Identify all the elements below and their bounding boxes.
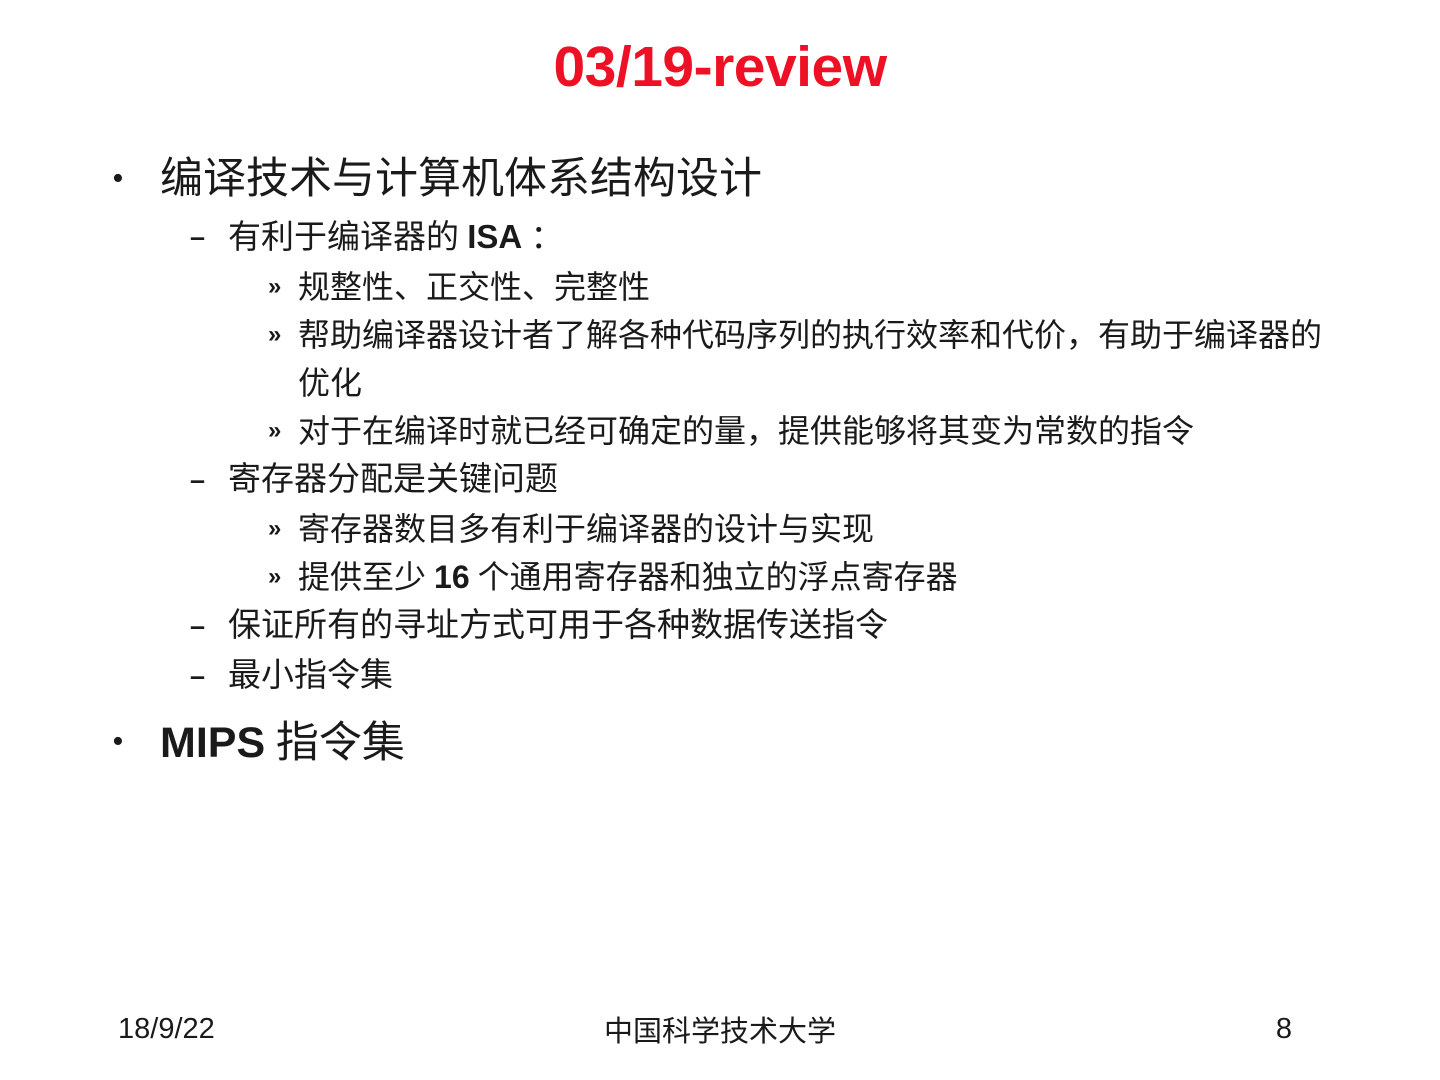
bullet-item-level3: » 规整性、正交性、完整性 bbox=[0, 263, 1440, 311]
bullet-marker-level3: » bbox=[268, 311, 298, 359]
bullet-text-emphasis: ISA bbox=[467, 218, 522, 255]
bullet-text: MIPS 指令集 bbox=[160, 715, 1440, 772]
bullet-marker-level2: – bbox=[190, 212, 228, 262]
bullet-text-part: 有利于编译器的 bbox=[228, 220, 467, 256]
bullet-text: 寄存器分配是关键问题 bbox=[228, 455, 1440, 505]
bullet-marker-level2: – bbox=[190, 601, 228, 651]
bullet-item-level1: • MIPS 指令集 bbox=[0, 715, 1440, 772]
bullet-text-part: 提供至少 bbox=[298, 559, 434, 595]
bullet-item-level2: – 寄存器分配是关键问题 bbox=[0, 455, 1440, 505]
footer-organization: 中国科学技术大学 bbox=[0, 1008, 1440, 1050]
bullet-text: 有利于编译器的 ISA ： bbox=[228, 212, 1440, 263]
bullet-text: 帮助编译器设计者了解各种代码序列的执行效率和代价，有助于编译器的优化 bbox=[298, 311, 1440, 407]
bullet-item-level1: • 编译技术与计算机体系结构设计 bbox=[0, 152, 1440, 208]
bullet-item-level3: » 帮助编译器设计者了解各种代码序列的执行效率和代价，有助于编译器的优化 bbox=[0, 311, 1440, 407]
bullet-item-level3: » 寄存器数目多有利于编译器的设计与实现 bbox=[0, 505, 1440, 553]
bullet-marker-level1: • bbox=[112, 152, 160, 206]
slide-footer: 18/9/22 中国科学技术大学 8 bbox=[0, 1006, 1440, 1052]
bullet-item-level2: – 有利于编译器的 ISA ： bbox=[0, 212, 1440, 263]
bullet-text: 规整性、正交性、完整性 bbox=[298, 263, 1440, 311]
bullet-marker-level3: » bbox=[268, 407, 298, 455]
bullet-text-part: 个通用寄存器和独立的浮点寄存器 bbox=[470, 559, 958, 595]
slide-body: • 编译技术与计算机体系结构设计 – 有利于编译器的 ISA ： » 规整性、正… bbox=[0, 152, 1440, 776]
bullet-item-level3: » 提供至少 16 个通用寄存器和独立的浮点寄存器 bbox=[0, 553, 1440, 601]
footer-page-number: 8 bbox=[1276, 1013, 1292, 1046]
bullet-spacer bbox=[0, 701, 1440, 715]
bullet-marker-level3: » bbox=[268, 553, 298, 601]
bullet-item-level3: » 对于在编译时就已经可确定的量，提供能够将其变为常数的指令 bbox=[0, 407, 1440, 455]
bullet-marker-level1: • bbox=[112, 715, 160, 769]
bullet-marker-level2: – bbox=[190, 651, 228, 701]
bullet-text-part: ： bbox=[522, 220, 563, 256]
bullet-text-part: 指令集 bbox=[265, 720, 405, 767]
bullet-marker-level3: » bbox=[268, 263, 298, 311]
bullet-item-level2: – 最小指令集 bbox=[0, 651, 1440, 701]
bullet-marker-level2: – bbox=[190, 455, 228, 505]
page-title: 03/19-review bbox=[0, 36, 1440, 99]
bullet-text: 保证所有的寻址方式可用于各种数据传送指令 bbox=[228, 601, 1440, 651]
bullet-text: 最小指令集 bbox=[228, 651, 1440, 701]
bullet-item-level2: – 保证所有的寻址方式可用于各种数据传送指令 bbox=[0, 601, 1440, 651]
bullet-marker-level3: » bbox=[268, 505, 298, 553]
bullet-text: 对于在编译时就已经可确定的量，提供能够将其变为常数的指令 bbox=[298, 407, 1440, 455]
bullet-text-emphasis: 16 bbox=[434, 559, 470, 595]
bullet-text: 寄存器数目多有利于编译器的设计与实现 bbox=[298, 505, 1440, 553]
slide: 03/19-review • 编译技术与计算机体系结构设计 – 有利于编译器的 … bbox=[0, 0, 1440, 1080]
bullet-text: 编译技术与计算机体系结构设计 bbox=[160, 152, 1440, 208]
bullet-text: 提供至少 16 个通用寄存器和独立的浮点寄存器 bbox=[298, 553, 1440, 601]
bullet-text-emphasis: MIPS bbox=[160, 719, 265, 767]
